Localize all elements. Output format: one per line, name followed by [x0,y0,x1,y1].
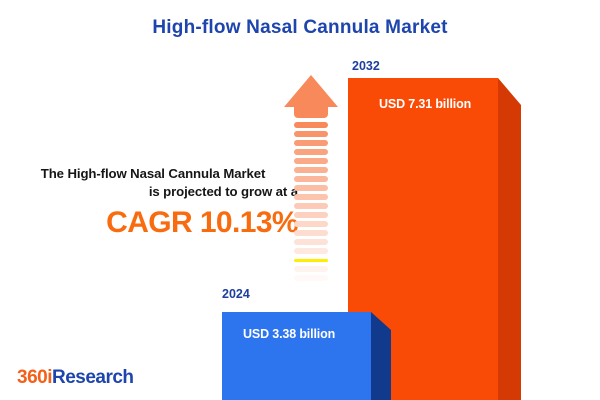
arrow-stripe [294,275,328,281]
arrow-stripe [294,203,328,209]
statement-line-1: The High-flow Nasal Cannula Market [8,165,298,183]
arrow-stripe [294,185,328,191]
arrow-stripe [294,194,328,200]
arrow-stripe [294,266,328,272]
year-label-2024: 2024 [222,287,250,301]
arrow-stripe [294,212,328,218]
arrow-stripes [294,122,328,294]
infographic-canvas: High-flow Nasal Cannula Market The High-… [0,0,600,400]
arrow-stripe [294,140,328,146]
arrow-stripe [294,230,328,236]
bar-2024-value-label: USD 3.38 billion [243,327,335,341]
bar-2032-side [498,78,521,400]
bar-2032-value-label: USD 7.31 billion [379,97,471,111]
arrow-neck [294,106,328,118]
arrow-stripe [294,167,328,173]
arrow-stripe [294,122,328,128]
arrow-stripe [294,131,328,137]
cagr-value: CAGR 10.13% [8,206,298,240]
arrow-stripe [294,239,328,245]
arrow-stripe [294,259,328,262]
bar-2024-front [222,312,371,400]
arrow-stripe [294,149,328,155]
arrow-stripe [294,248,328,254]
arrow-head-icon [283,74,339,108]
arrow-stripe [294,221,328,227]
cagr-statement: The High-flow Nasal Cannula Market is pr… [8,165,298,240]
logo-text-360i: 360i [17,367,52,388]
arrow-stripe [294,284,328,290]
brand-logo: 360iResearch [17,367,134,389]
year-label-2032: 2032 [352,59,380,73]
page-title: High-flow Nasal Cannula Market [0,17,600,39]
arrow-stripe [294,176,328,182]
growth-arrow-icon [283,74,339,294]
arrow-stripe [294,158,328,164]
logo-text-research: Research [52,367,134,388]
statement-line-2: is projected to grow at a [8,183,298,201]
